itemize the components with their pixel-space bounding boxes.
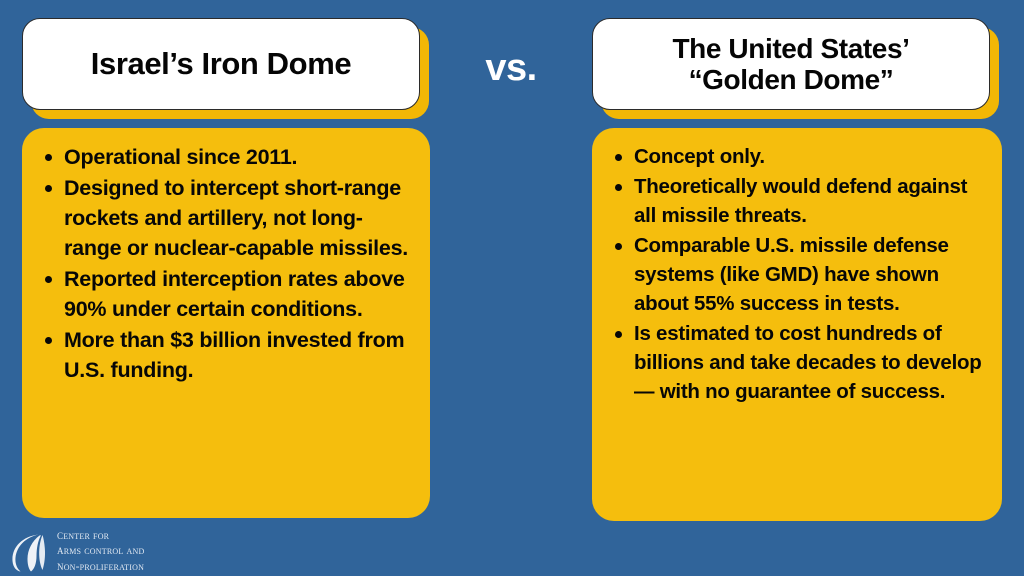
logo-line-2: Arms Control and: [57, 543, 144, 558]
left-header-title: Israel’s Iron Dome: [77, 47, 365, 82]
right-header-title: The United States’ “Golden Dome”: [658, 33, 923, 96]
dome-arcs-logo-icon: [8, 530, 48, 572]
list-item: Comparable U.S. missile defense systems …: [606, 231, 984, 318]
list-item: Theoretically would defend against all m…: [606, 172, 984, 230]
list-item: Reported interception rates above 90% un…: [36, 264, 412, 324]
versus-label: vs.: [456, 47, 566, 90]
slide-canvas: Israel’s Iron Dome Operational since 201…: [0, 0, 1024, 576]
organization-logo-text: Center For Arms Control and Non-Prolifer…: [57, 528, 144, 574]
left-bullet-list: Operational since 2011. Designed to inte…: [36, 142, 412, 385]
right-bullet-list: Concept only. Theoretically would defend…: [606, 142, 984, 406]
list-item: Is estimated to cost hundreds of billion…: [606, 319, 984, 406]
left-header-card: Israel’s Iron Dome: [22, 18, 420, 110]
logo-line-1: Center For: [57, 528, 144, 543]
list-item: More than $3 billion invested from U.S. …: [36, 325, 412, 385]
right-header-card: The United States’ “Golden Dome”: [592, 18, 990, 110]
organization-logo: Center For Arms Control and Non-Prolifer…: [8, 528, 144, 574]
list-item: Concept only.: [606, 142, 984, 171]
list-item: Designed to intercept short-range rocket…: [36, 173, 412, 263]
comparison-column-left: Israel’s Iron Dome Operational since 201…: [22, 0, 434, 576]
comparison-column-right: The United States’ “Golden Dome” Concept…: [592, 0, 1004, 576]
right-header-card-wrap: The United States’ “Golden Dome”: [592, 18, 990, 110]
right-body-card: Concept only. Theoretically would defend…: [592, 128, 1002, 521]
left-body-card: Operational since 2011. Designed to inte…: [22, 128, 430, 518]
list-item: Operational since 2011.: [36, 142, 412, 172]
logo-line-3: Non-Proliferation: [57, 559, 144, 574]
left-header-card-wrap: Israel’s Iron Dome: [22, 18, 420, 110]
